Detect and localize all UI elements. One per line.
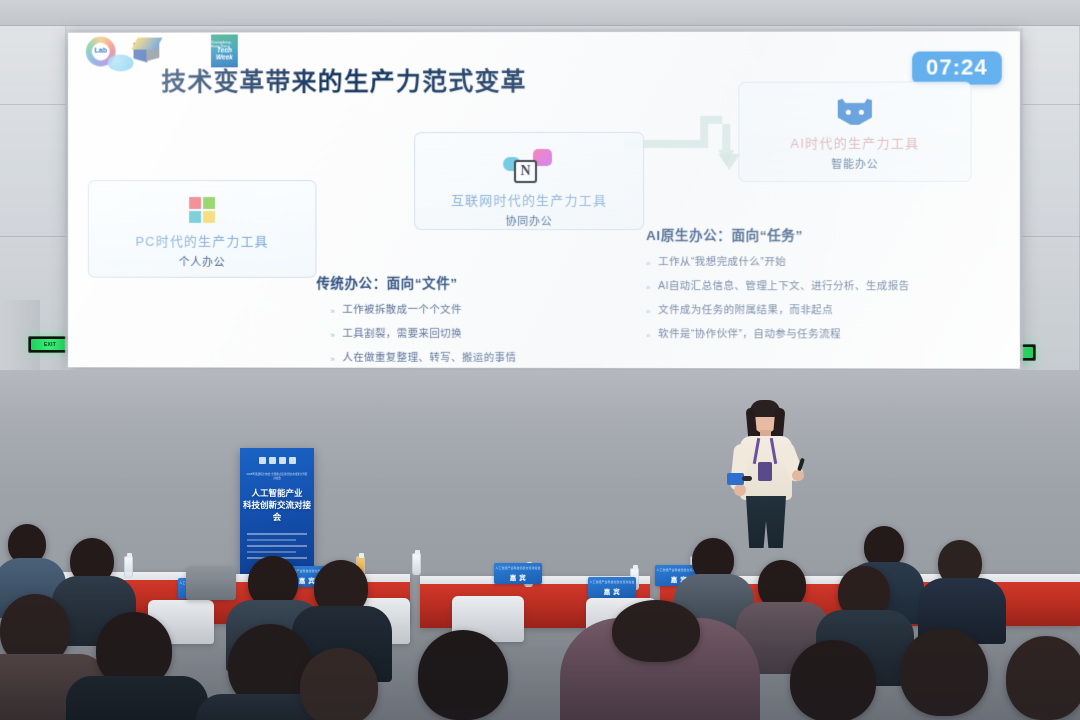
placard-event-line: 人工智能产业科技创新交流对接会 (496, 566, 541, 570)
banner-title-line1: 人工智能产业 (251, 488, 302, 499)
era-title-pc: PC时代的生产力工具 (135, 231, 268, 250)
ai-robot-icon (838, 99, 872, 125)
ai-native-office-bullet: » AI自动汇总信息、管理上下文、进行分析、生成报告 (646, 280, 1008, 293)
era-subtitle-internet: 协同办公 (505, 213, 552, 229)
placard-name: 嘉 宾 (299, 575, 316, 585)
notion-letter: N (514, 160, 537, 183)
ai-native-office-bullet: » 软件是“协作伙伴”，自动参与任务流程 (646, 328, 1008, 342)
techweek-line3: Week (216, 55, 233, 62)
bullet-text: 文件成为任务的附属结果，而非起点 (658, 304, 833, 317)
bullet-dot-icon: » (330, 332, 335, 337)
water-bottle (412, 553, 421, 575)
bullet-text: 软件是“协作伙伴”，自动参与任务流程 (658, 329, 841, 342)
audience-chair (186, 566, 236, 600)
notion-app-icon: N (503, 149, 555, 182)
placard-name: 嘉 宾 (604, 586, 621, 596)
name-placard: 人工智能产业科技创新交流对接会 嘉 宾 (588, 577, 636, 598)
exit-sign-label: EXIT (31, 339, 69, 350)
ai-native-office-bullet: » 文件成为任务的附属结果，而非起点 (646, 304, 1008, 318)
cube-logo-icon (132, 36, 162, 66)
lab-logo-label: Lab (86, 36, 116, 66)
bullet-text: 人在做重复整理、转写、搬运的事情 (342, 352, 516, 365)
ai-native-office-bullet: » 工作从“我想完成什么”开始 (646, 256, 1008, 269)
ai-native-office-heading: AI原生办公：面向“任务” (646, 224, 1008, 244)
lab-ring-logo-icon: Lab (86, 36, 116, 66)
era-card-pc: PC时代的生产力工具 个人办公 (88, 180, 317, 278)
bullet-dot-icon: » (646, 260, 651, 265)
bullet-dot-icon: » (330, 356, 335, 361)
name-placard: 人工智能产业科技创新交流对接会 嘉 宾 (494, 563, 542, 584)
placard-name: 嘉 宾 (510, 572, 527, 582)
bullet-dot-icon: » (646, 284, 651, 289)
microsoft-squares-icon (189, 197, 215, 223)
audience-head (418, 630, 508, 720)
projection-screen: Lab Guangdong-Hong Kong Tech Week 技术变革带来… (68, 31, 1020, 368)
speaker-presenter (722, 396, 808, 546)
traditional-office-bullet: » 人在做重复整理、转写、搬运的事情 (259, 352, 578, 366)
audience-body (66, 676, 208, 720)
traditional-office-bullet: » 工具割裂，需要来回切换 (259, 328, 578, 341)
conference-photo-scene: EXIT EXIT Lab Guangdong-Hong Kong Tech W… (0, 0, 1080, 720)
broadcast-title-overlay: 2025粤港澳院士峰会 全国重点实验室技术成果大湾区对接会 人工智能产业科技创新… (560, 612, 1080, 712)
placard-event-line: 人工智能产业科技创新交流对接会 (590, 580, 635, 584)
banner-subtitle: 2025粤港澳院士峰会 全国重点实验室技术成果大湾区对接会 (246, 473, 308, 481)
bullet-dot-icon: » (646, 308, 651, 313)
audience-head (300, 648, 378, 720)
banner-logo-row (259, 457, 296, 464)
bullet-text: 工作从“我想完成什么”开始 (658, 256, 786, 269)
era-title-ai: AI时代的生产力工具 (790, 133, 919, 152)
speaker-badge (758, 462, 772, 481)
era-card-internet: N 互联网时代的生产力工具 协同办公 (414, 132, 644, 230)
era-title-internet: 互联网时代的生产力工具 (451, 190, 607, 209)
era-subtitle-pc: 个人办公 (179, 254, 226, 270)
bullet-dot-icon: » (646, 332, 651, 337)
traditional-office-bullet: » 工作被拆散成一个个文件 (259, 304, 578, 317)
microphone-icon (727, 473, 744, 485)
ceiling-strip (0, 0, 1080, 26)
ai-native-office-block: AI原生办公：面向“任务” » 工作从“我想完成什么”开始 » AI自动汇总信息… (646, 224, 1008, 353)
bullet-text: AI自动汇总信息、管理上下文、进行分析、生成报告 (658, 280, 910, 293)
banner-title-line2: 科技创新交流对接会 (240, 500, 314, 523)
era-subtitle-ai: 智能办公 (831, 156, 878, 172)
countdown-timer-badge: 07:24 (912, 51, 1002, 84)
traditional-office-block: 传统办公：面向“文件” » 工作被拆散成一个个文件 » 工具割裂，需要来回切换 … (259, 272, 578, 369)
exit-sign-icon: EXIT (28, 336, 72, 353)
era-card-ai: AI时代的生产力工具 智能办公 (738, 82, 971, 182)
traditional-office-heading: 传统办公：面向“文件” (259, 272, 578, 292)
bullet-text: 工具割裂，需要来回切换 (342, 328, 462, 341)
bullet-text: 工作被拆散成一个个文件 (342, 304, 462, 317)
slide-title: 技术变革带来的生产力范式变革 (161, 62, 527, 98)
bullet-dot-icon: » (330, 308, 335, 313)
water-bottle (124, 556, 133, 578)
